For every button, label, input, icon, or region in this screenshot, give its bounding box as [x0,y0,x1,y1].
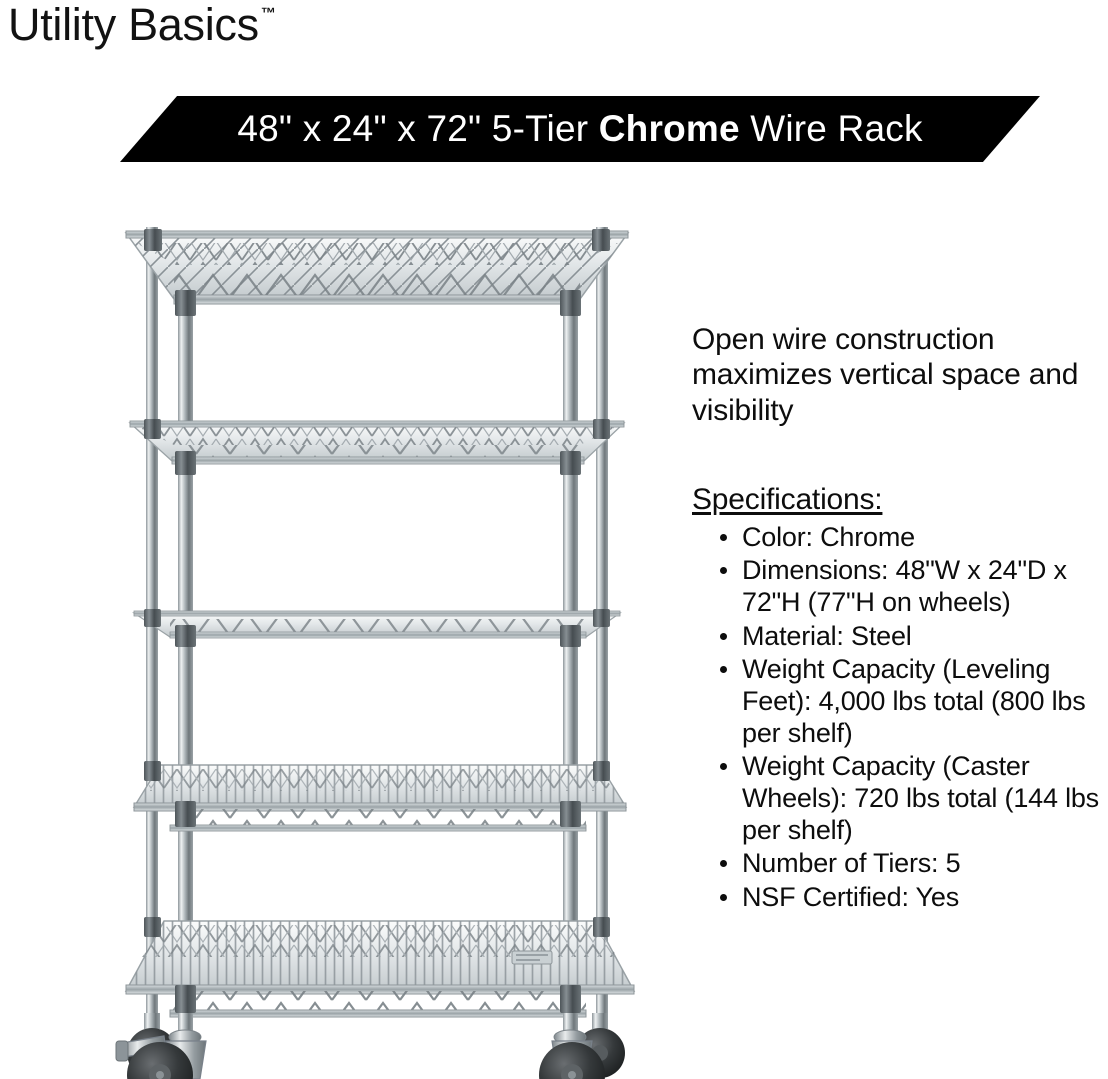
list-item: Color: Chrome [718,521,1108,553]
specifications-heading: Specifications: [692,483,882,517]
banner-title-highlight: Chrome [599,108,740,150]
list-item: Weight Capacity (Leveling Feet): 4,000 l… [718,653,1108,749]
list-item: Material: Steel [718,620,1108,652]
list-item: NSF Certified: Yes [718,881,1108,913]
banner-title-suffix: Wire Rack [740,108,923,150]
trademark-symbol: ™ [261,6,276,21]
list-item: Number of Tiers: 5 [718,847,1108,879]
brand-logo: Utility Basics ™ [8,2,276,47]
list-item: Weight Capacity (Caster Wheels): 720 lbs… [718,750,1108,846]
copy-column: Open wire construction maximizes vertica… [692,322,1108,914]
title-banner: 48" x 24" x 72" 5-Tier Chrome Wire Rack [120,96,1040,162]
product-image [60,195,700,1079]
headline-text: Open wire construction maximizes vertica… [692,322,1108,428]
specifications-block: Specifications: Color: Chrome Dimensions… [692,428,1108,913]
specifications-list: Color: Chrome Dimensions: 48"W x 24"D x … [692,521,1108,913]
brand-name: Utility Basics [8,2,259,47]
banner-title-prefix: 48" x 24" x 72" 5-Tier [237,108,598,150]
product-infographic: Utility Basics ™ 48" x 24" x 72" 5-Tier … [0,0,1108,1079]
banner-title: 48" x 24" x 72" 5-Tier Chrome Wire Rack [120,96,1040,162]
list-item: Dimensions: 48"W x 24"D x 72"H (77"H on … [718,554,1108,618]
